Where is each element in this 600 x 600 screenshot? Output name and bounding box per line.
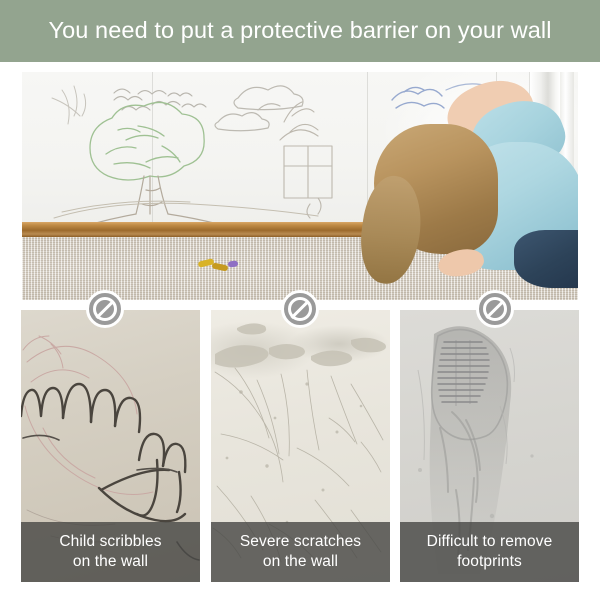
panel-caption: Child scribbles on the wall — [21, 522, 200, 582]
no-entry-icon — [86, 290, 124, 328]
hero-image — [22, 72, 578, 300]
child-figure — [360, 80, 578, 280]
panel-caption-text: Difficult to remove footprints — [423, 532, 557, 572]
panel-caption: Difficult to remove footprints — [400, 522, 579, 582]
no-entry-icon — [476, 290, 514, 328]
panel-difficult-footprints: Difficult to remove footprints — [400, 310, 579, 582]
child-jeans — [514, 230, 578, 288]
caption-line-1: Child scribbles — [59, 533, 161, 550]
panel-caption-text: Child scribbles on the wall — [55, 532, 165, 572]
caption-line-1: Difficult to remove — [427, 533, 553, 550]
panel-severe-scratches: Severe scratches on the wall — [211, 310, 390, 582]
caption-line-2: on the wall — [73, 553, 148, 570]
caption-line-1: Severe scratches — [240, 533, 361, 550]
panel-child-scribbles: Child scribbles on the wall — [21, 310, 200, 582]
caption-line-2: footprints — [457, 553, 522, 570]
panel-caption: Severe scratches on the wall — [211, 522, 390, 582]
no-entry-icon — [281, 290, 319, 328]
promo-page: You need to put a protective barrier on … — [0, 0, 600, 600]
panel-caption-text: Severe scratches on the wall — [236, 532, 365, 572]
page-title: You need to put a protective barrier on … — [48, 19, 551, 43]
caption-line-2: on the wall — [263, 553, 338, 570]
header-banner: You need to put a protective barrier on … — [0, 0, 600, 62]
